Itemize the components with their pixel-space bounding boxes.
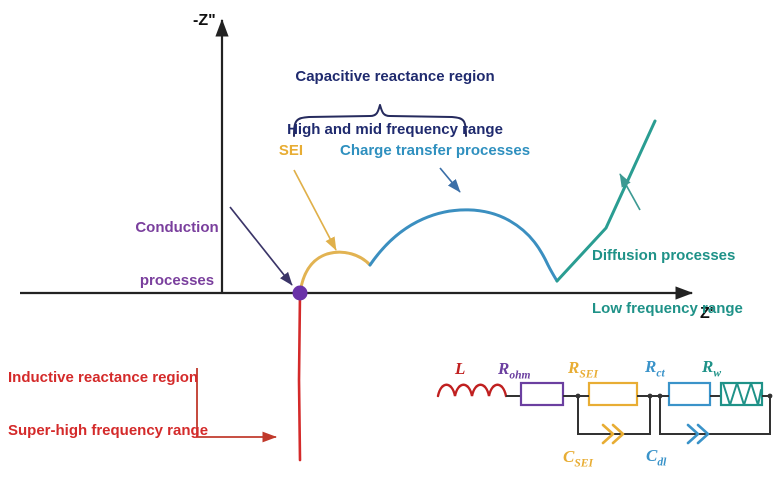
inductive-annotation: Inductive reactance region Super-high fr… <box>8 334 240 476</box>
circuit-label-CSEI-sub: SEI <box>574 456 593 469</box>
circuit-label-Rct-sub: ct <box>656 366 664 379</box>
circuit-label-Rohm-sub: ohm <box>509 368 530 381</box>
origin-dot <box>293 286 308 301</box>
diffusion-line2: Low frequency range <box>592 300 780 318</box>
resistor-Rohm-symbol <box>521 383 563 405</box>
resistor-RSEI-symbol <box>589 383 637 405</box>
y-axis-label: -Z" <box>193 12 216 31</box>
charge-transfer-annotation: Charge transfer processes <box>340 142 580 160</box>
diffusion-line1: Diffusion processes <box>592 247 780 265</box>
sei-arrow <box>294 170 336 250</box>
conduction-line2: processes <box>108 272 246 290</box>
node-A-dot <box>576 394 581 399</box>
circuit-label-CSEI: CSEI <box>563 447 593 469</box>
circuit-label-L: L <box>455 359 465 381</box>
conduction-annotation: Conduction processes <box>108 184 246 326</box>
circuit-label-Rw-base: R <box>702 357 713 376</box>
circuit-label-Rw-sub: w <box>713 366 721 379</box>
sei-semicircle-curve <box>300 252 370 293</box>
circuit-label-Cdl: Cdl <box>646 446 666 468</box>
inductive-tail-curve <box>299 293 300 460</box>
inductive-line1: Inductive reactance region <box>8 369 240 387</box>
resistor-Rct-symbol <box>669 383 710 405</box>
circuit-label-Cdl-sub: dl <box>657 455 666 468</box>
charge-transfer-semicircle-curve <box>370 210 557 281</box>
circuit-label-Rohm: Rohm <box>498 359 531 381</box>
circuit-label-CSEI-base: C <box>563 447 574 466</box>
circuit-label-Rohm-base: R <box>498 359 509 378</box>
conduction-line1: Conduction <box>108 219 246 237</box>
circuit-label-Rct-base: R <box>645 357 656 376</box>
circuit-label-RSEI-base: R <box>568 358 579 377</box>
circuit-label-RSEI-sub: SEI <box>579 367 598 380</box>
circuit-label-L-base: L <box>455 359 465 378</box>
circuit-label-Cdl-base: C <box>646 446 657 465</box>
capacitive-region-line2: High and mid frequency range <box>250 121 540 139</box>
sei-annotation: SEI <box>265 142 317 160</box>
circuit-label-Rct: Rct <box>645 357 665 379</box>
diffusion-annotation: Diffusion processes Low frequency range <box>592 212 780 354</box>
equivalent-circuit <box>438 383 772 443</box>
capacitive-region-line1: Capacitive reactance region <box>250 68 540 86</box>
inductive-line2: Super-high frequency range <box>8 422 240 440</box>
figure-canvas: -Z" Z' Capacitive reactance region High … <box>0 0 780 478</box>
circuit-label-Rw: Rw <box>702 357 721 379</box>
inductor-L-symbol <box>438 385 506 396</box>
circuit-label-RSEI: RSEI <box>568 358 598 380</box>
